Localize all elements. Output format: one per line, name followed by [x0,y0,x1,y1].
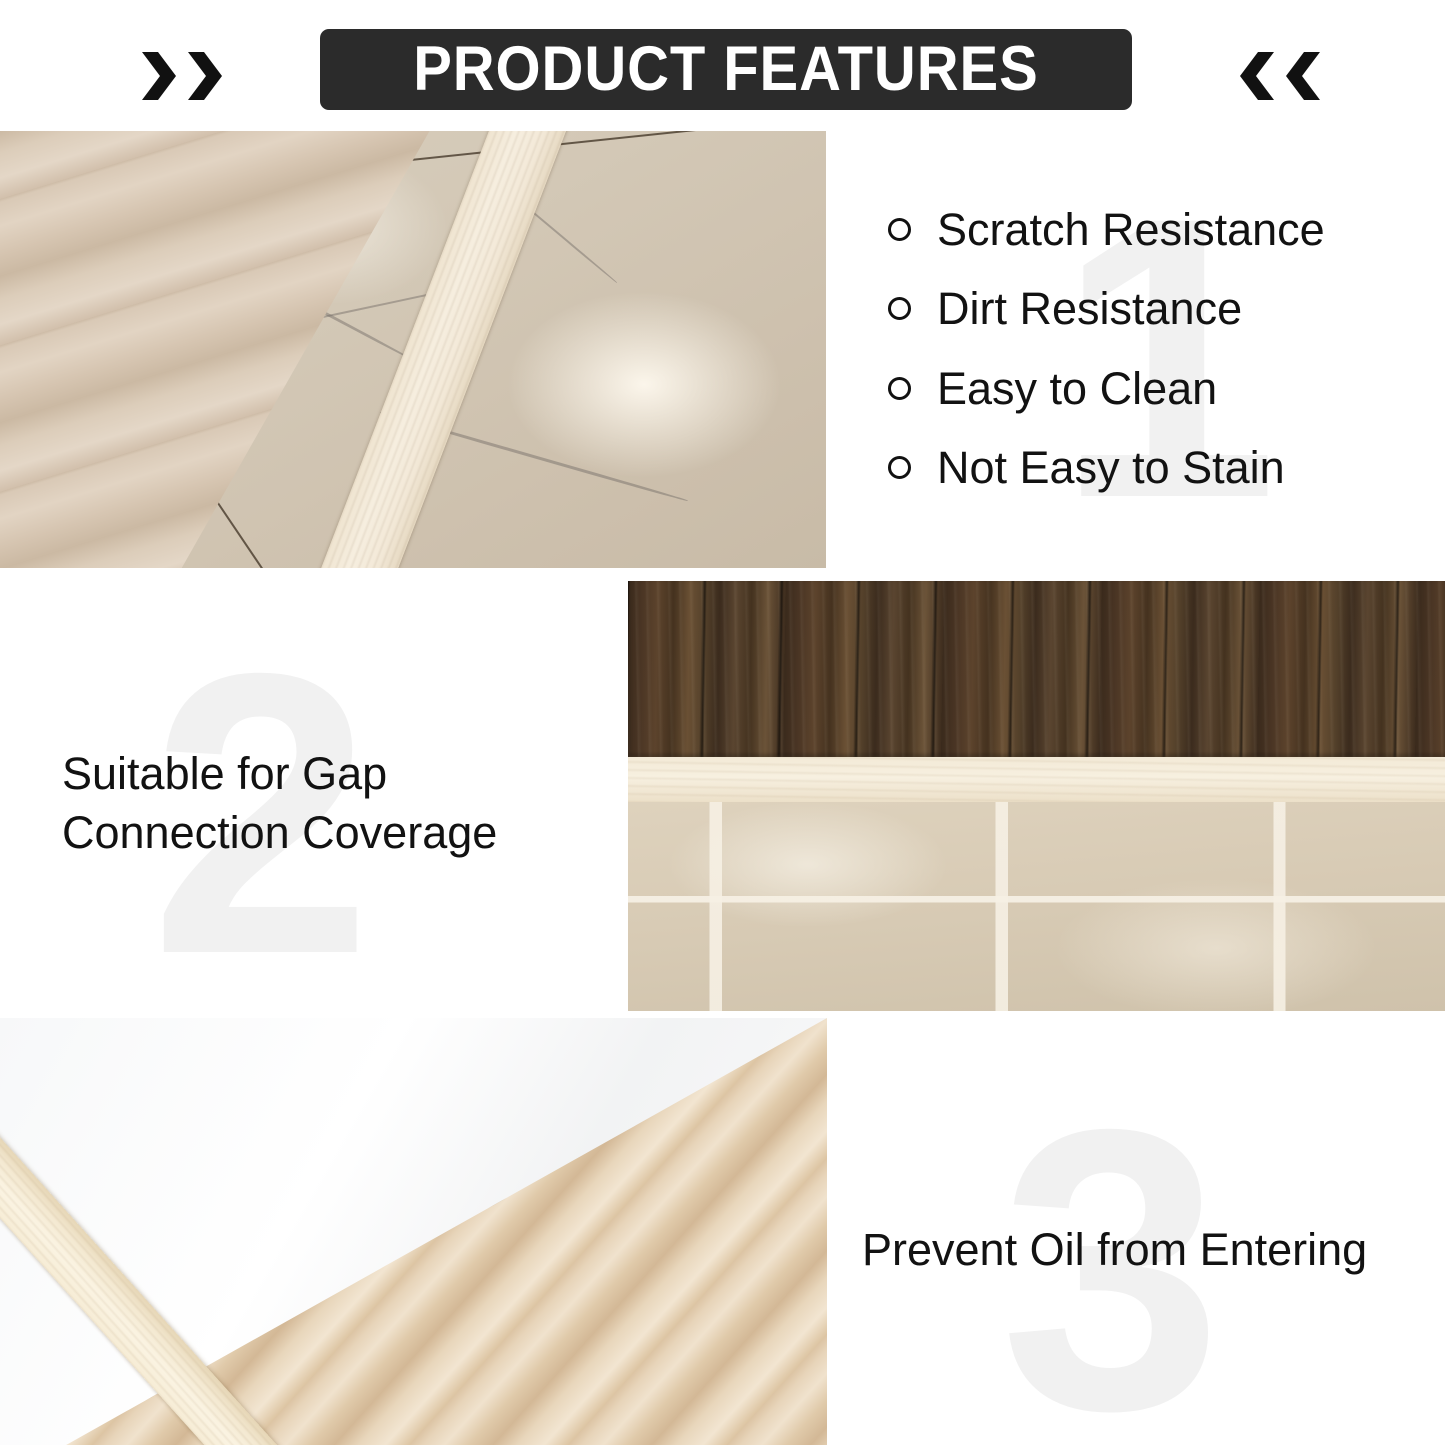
caption-line: Connection Coverage [62,803,602,862]
photo-white-panel-oak-transition [0,1018,827,1445]
header-banner: PRODUCT FEATURES [0,0,1445,130]
product-features-infographic: PRODUCT FEATURES 1 Scratch Resi [0,0,1445,1445]
travertine-tile-surface [628,802,1445,1011]
page-title-plate: PRODUCT FEATURES [320,29,1132,110]
transition-strip [628,757,1445,802]
bullet-circle-icon [888,377,911,400]
section-caption-2: Suitable for Gap Connection Coverage [62,744,602,863]
caption-line: Suitable for Gap [62,744,602,803]
list-item: Dirt Resistance [888,284,1408,334]
feature-label: Not Easy to Stain [937,443,1285,493]
list-item: Not Easy to Stain [888,443,1408,493]
list-item: Scratch Resistance [888,205,1408,255]
section-caption-3: Prevent Oil from Entering [862,1222,1432,1278]
page-title: PRODUCT FEATURES [413,38,1038,101]
photo-laminate-marble-transition [0,131,826,568]
feature-label: Easy to Clean [937,364,1217,414]
bullet-circle-icon [888,456,911,479]
double-chevron-left-icon [1238,48,1348,104]
feature-label: Dirt Resistance [937,284,1242,334]
feature-list: Scratch Resistance Dirt Resistance Easy … [888,205,1408,523]
dark-rustic-wood-surface [628,581,1445,757]
bullet-circle-icon [888,218,911,241]
list-item: Easy to Clean [888,364,1408,414]
bullet-circle-icon [888,297,911,320]
photo-rustic-wood-travertine-transition [628,581,1445,1011]
double-chevron-right-icon [138,48,248,104]
feature-label: Scratch Resistance [937,205,1325,255]
